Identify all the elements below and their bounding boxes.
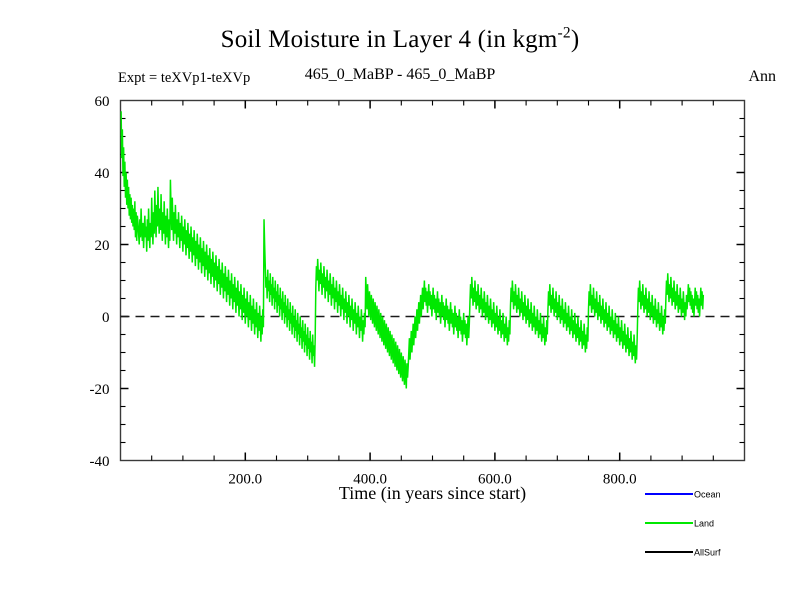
y-tick-label: -40 [90, 454, 110, 470]
legend-label-allsurf: AllSurf [694, 548, 721, 558]
x-tick-label: 400.0 [353, 472, 387, 488]
y-tick-label: 0 [102, 310, 110, 326]
x-tick-label: 800.0 [603, 472, 637, 488]
x-tick-label: 200.0 [228, 472, 262, 488]
y-tick-label: -20 [90, 382, 110, 398]
y-tick-label: 40 [95, 166, 110, 182]
axis-tick-labels: 200.0400.0600.0800.0-40-200204060 [90, 94, 637, 488]
chart-page: Soil Moisture in Layer 4 (in kgm-2) Expt… [0, 0, 800, 600]
legend-label-ocean: Ocean [694, 490, 721, 500]
y-tick-label: 20 [95, 238, 110, 254]
x-tick-label: 600.0 [478, 472, 512, 488]
y-tick-label: 60 [95, 94, 110, 110]
legend-label-land: Land [694, 519, 714, 529]
chart-legend: OceanLandAllSurf [645, 490, 721, 558]
chart-canvas: 200.0400.0600.0800.0-40-200204060OceanLa… [0, 0, 800, 600]
series-line-land [121, 111, 703, 388]
